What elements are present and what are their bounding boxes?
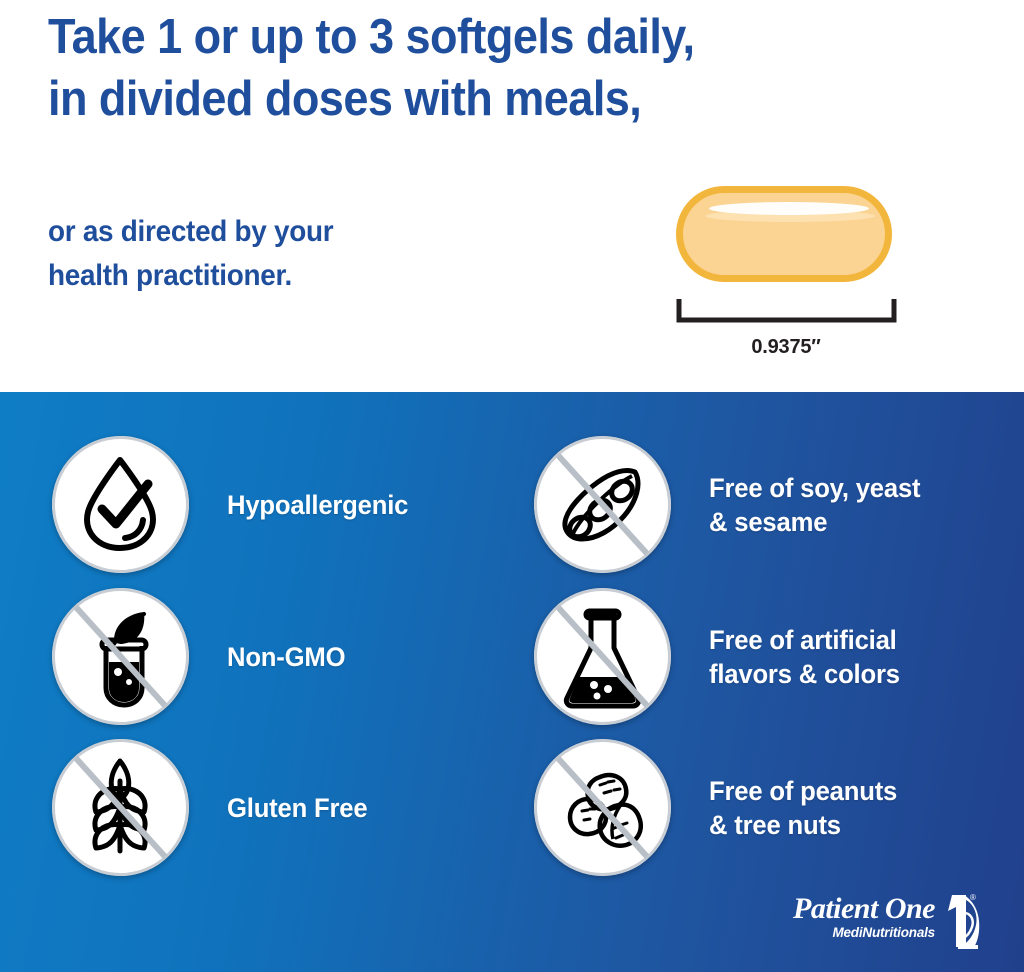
subheadline-line-1: or as directed by your [48,210,513,254]
softgel-measurement-label: 0.9375″ [668,336,904,359]
softgel-capsule-icon [676,186,892,282]
feature-label-line: & sesame [709,505,920,539]
brand-logo-text: Patient One MediNutritionals [770,893,935,941]
feature-label-line: Free of soy, yeast [709,471,920,505]
feature-label-free-of-artificial-flavors-colors: Free of artificial flavors & colors [709,623,900,691]
feature-free-of-soy-yeast-sesame: Free of soy, yeast & sesame [534,436,932,573]
erlenmeyer-flask-icon [534,588,671,725]
registered-trademark-symbol: ® [970,893,976,902]
feature-list: Hypoallergenic [0,392,1024,912]
peanut-nuts-icon [534,739,671,876]
test-tube-leaf-icon [52,588,189,725]
feature-non-gmo: Non-GMO [52,588,352,725]
badge-free-of-artificial-flavors-colors [534,588,671,725]
feature-hypoallergenic: Hypoallergenic [52,436,418,573]
feature-label-free-of-soy-yeast-sesame: Free of soy, yeast & sesame [709,471,920,539]
feature-label-line: & tree nuts [709,808,897,842]
brand-tagline: MediNutritionals [770,925,935,941]
headline-line-2: in divided doses with meals, [48,68,830,130]
measurement-bracket-icon [676,298,897,324]
feature-label-gluten-free: Gluten Free [227,791,367,825]
wheat-stalk-icon [52,739,189,876]
subheadline: or as directed by your health practition… [48,210,513,298]
feature-label-line: flavors & colors [709,657,900,691]
feature-label-non-gmo: Non-GMO [227,640,345,674]
headline: Take 1 or up to 3 softgels daily, in div… [48,6,830,130]
badge-free-of-soy-yeast-sesame [534,436,671,573]
water-droplet-check-icon [52,436,189,573]
subheadline-line-2: health practitioner. [48,254,513,298]
free-from-claims-panel: Hypoallergenic [0,392,1024,972]
feature-free-of-artificial-flavors-colors: Free of artificial flavors & colors [534,588,910,725]
feature-label-line: Gluten Free [227,791,367,825]
feature-label-free-of-peanuts-tree-nuts: Free of peanuts & tree nuts [709,774,897,842]
badge-free-of-peanuts-tree-nuts [534,739,671,876]
feature-label-hypoallergenic: Hypoallergenic [227,488,408,522]
softgel-highlight [709,202,869,215]
badge-hypoallergenic [52,436,189,573]
badge-gluten-free [52,739,189,876]
dosage-instructions-section: Take 1 or up to 3 softgels daily, in div… [0,0,1024,392]
infographic-page: Take 1 or up to 3 softgels daily, in div… [0,0,1024,972]
softgel-size-diagram: 0.9375″ [668,186,908,366]
feature-label-line: Hypoallergenic [227,488,408,522]
feature-label-line: Free of peanuts [709,774,897,808]
feature-gluten-free: Gluten Free [52,739,375,876]
badge-non-gmo [52,588,189,725]
headline-line-1: Take 1 or up to 3 softgels daily, [48,6,830,68]
feature-free-of-peanuts-tree-nuts: Free of peanuts & tree nuts [534,739,907,876]
brand-logo[interactable]: Patient One MediNutritionals ® [770,893,980,955]
feature-label-line: Free of artificial [709,623,900,657]
soybean-pod-icon [534,436,671,573]
feature-label-line: Non-GMO [227,640,345,674]
brand-name: Patient One [770,893,935,925]
